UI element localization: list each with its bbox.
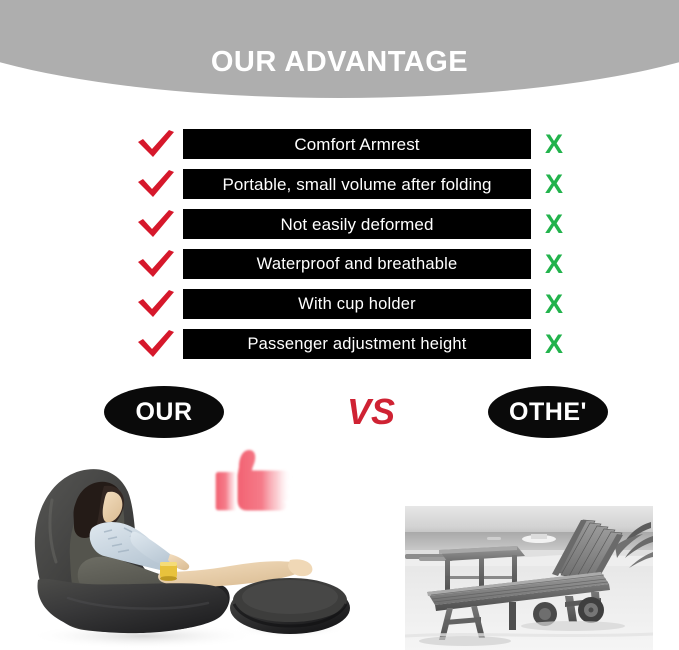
red-check-icon bbox=[134, 284, 178, 324]
green-x-icon: X bbox=[536, 284, 572, 324]
green-x-label: X bbox=[545, 171, 563, 198]
feature-bar: Comfort Armrest bbox=[183, 129, 531, 159]
feature-comparison-list: Comfort Armrest X Portable, small volume… bbox=[0, 124, 679, 364]
feature-row: Passenger adjustment height X bbox=[0, 324, 679, 364]
green-x-label: X bbox=[545, 331, 563, 358]
green-x-label: X bbox=[545, 251, 563, 278]
green-x-icon: X bbox=[536, 204, 572, 244]
feature-label: Portable, small volume after folding bbox=[222, 176, 491, 193]
feature-row: With cup holder X bbox=[0, 284, 679, 324]
badge-other: OTHE' bbox=[488, 386, 608, 438]
page-title: OUR ADVANTAGE bbox=[0, 46, 679, 79]
feature-label: Not easily deformed bbox=[280, 216, 433, 233]
red-check-icon bbox=[134, 204, 178, 244]
badge-other-label: OTHE' bbox=[509, 400, 587, 425]
feature-label: Comfort Armrest bbox=[294, 136, 419, 153]
red-check-icon bbox=[134, 164, 178, 204]
feature-label: Waterproof and breathable bbox=[257, 256, 458, 273]
feature-bar: Passenger adjustment height bbox=[183, 329, 531, 359]
thumbs-up-icon bbox=[209, 445, 304, 517]
green-x-icon: X bbox=[536, 164, 572, 204]
green-x-label: X bbox=[545, 211, 563, 238]
red-check-icon bbox=[134, 244, 178, 284]
badge-ours: OUR bbox=[104, 386, 224, 438]
feature-bar: With cup holder bbox=[183, 289, 531, 319]
green-x-icon: X bbox=[536, 244, 572, 284]
feature-label: With cup holder bbox=[298, 296, 416, 313]
badge-ours-label: OUR bbox=[135, 400, 192, 425]
versus-label: VS bbox=[331, 388, 411, 436]
feature-bar: Not easily deformed bbox=[183, 209, 531, 239]
feature-row: Portable, small volume after folding X bbox=[0, 164, 679, 204]
feature-row: Comfort Armrest X bbox=[0, 124, 679, 164]
feature-bar: Portable, small volume after folding bbox=[183, 169, 531, 199]
feature-row: Not easily deformed X bbox=[0, 204, 679, 244]
red-check-icon bbox=[134, 324, 178, 364]
wooden-beach-lounger-photo bbox=[405, 506, 653, 650]
feature-label: Passenger adjustment height bbox=[247, 336, 466, 353]
feature-row: Waterproof and breathable X bbox=[0, 244, 679, 284]
green-x-icon: X bbox=[536, 324, 572, 364]
feature-bar: Waterproof and breathable bbox=[183, 249, 531, 279]
versus-row: OUR VS OTHE' bbox=[0, 386, 679, 440]
red-check-icon bbox=[134, 124, 178, 164]
green-x-label: X bbox=[545, 291, 563, 318]
green-x-icon: X bbox=[536, 124, 572, 164]
green-x-label: X bbox=[545, 131, 563, 158]
